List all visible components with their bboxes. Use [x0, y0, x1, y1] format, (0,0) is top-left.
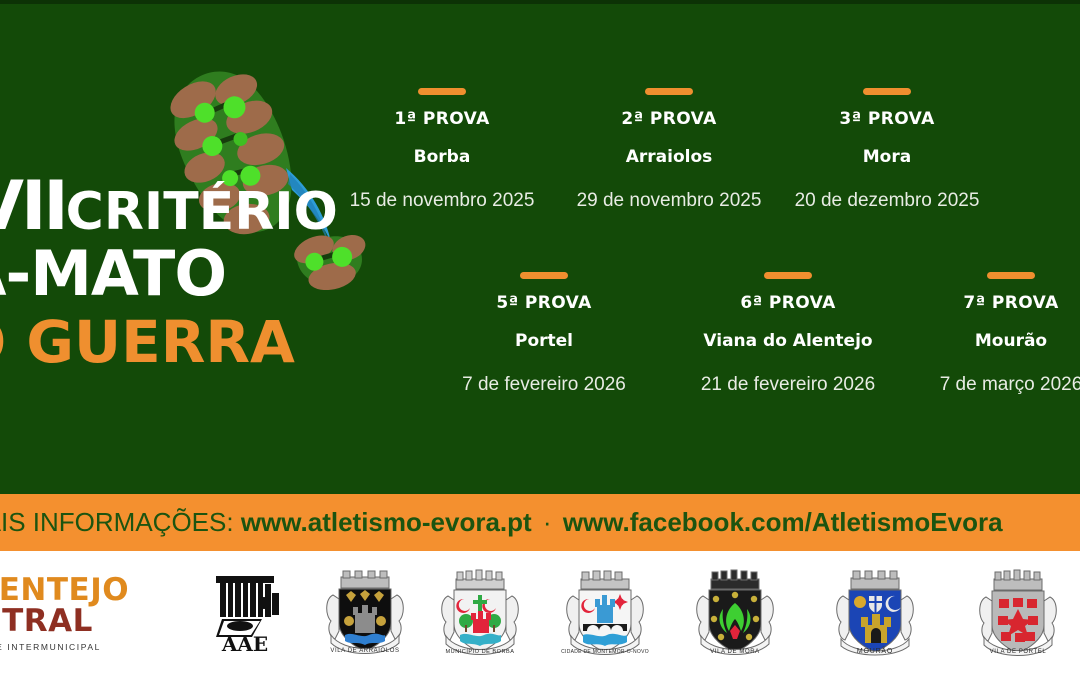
race-date-7: 7 de março 2026 [896, 374, 1080, 396]
accent-dash-icon [645, 88, 693, 95]
mourao-coat-of-arms-icon: MOURÃO [829, 569, 921, 657]
crest-portel: VILA DE PORTEL [955, 551, 1080, 675]
accent-dash-icon [863, 88, 911, 95]
accent-dash-icon [987, 272, 1035, 279]
borba-crest-caption: MUNICÍPIO DE BORBA [446, 648, 515, 655]
race-number-7: 7ª PROVA [896, 293, 1080, 313]
race-number-4: 4ª [995, 109, 1080, 129]
accent-dash-icon [520, 272, 568, 279]
race-number-2: 2ª PROVA [554, 109, 784, 129]
race-place-2: Arraiolos [554, 147, 784, 167]
race-place-6: Viana do Alentejo [673, 331, 903, 351]
race-date-4: 24 de j [995, 190, 1080, 212]
race-card-4: 4ª Monte 24 de j [995, 88, 1080, 212]
info-band-text: MAIS INFORMAÇÕES: www.atletismo-evora.pt… [0, 507, 1003, 538]
aae-wordmark: AAE [221, 632, 268, 653]
race-card-5: 5ª PROVA Portel 7 de fevereiro 2026 [429, 272, 659, 396]
alentejo-central-line3: UNIDADE INTERMUNICIPAL [0, 642, 101, 652]
portel-crest-caption: VILA DE PORTEL [989, 649, 1046, 655]
info-band: MAIS INFORMAÇÕES: www.atletismo-evora.pt… [0, 494, 1080, 551]
borba-coat-of-arms-icon: MUNICÍPIO DE BORBA [434, 569, 526, 657]
mora-crest-caption: VILA DE MORA [710, 649, 760, 655]
race-card-6: 6ª PROVA Viana do Alentejo 21 de feverei… [673, 272, 903, 396]
url-separator: · [539, 507, 556, 537]
alentejo-central-line2: ENTRAL [0, 606, 93, 637]
mora-coat-of-arms-icon: VILA DE MORA [689, 569, 781, 657]
race-date-2: 29 de novembro 2025 [554, 190, 784, 212]
crest-montemor-o-novo: CIDADE DE MONTEMOR-O-NOVO [540, 551, 670, 675]
race-card-1: 1ª PROVA Borba 15 de novembro 2025 [327, 88, 557, 212]
race-card-3: 3ª PROVA Mora 20 de dezembro 2025 [772, 88, 1002, 212]
race-date-5: 7 de fevereiro 2026 [429, 374, 659, 396]
portel-coat-of-arms-icon: VILA DE PORTEL [972, 569, 1064, 657]
race-number-5: 5ª PROVA [429, 293, 659, 313]
mourao-crest-caption: MOURÃO [857, 646, 893, 655]
arraiolos-coat-of-arms-icon: VILA DE ARRAIOLOS [319, 569, 411, 657]
race-schedule: 1ª PROVA Borba 15 de novembro 2025 2ª PR… [0, 0, 1080, 490]
sponsor-logo-strip: ALENTEJO ENTRAL UNIDADE INTERMUNICIPAL [0, 551, 1080, 675]
accent-dash-icon [418, 88, 466, 95]
alentejo-central-logo: ALENTEJO ENTRAL UNIDADE INTERMUNICIPAL [0, 551, 194, 675]
race-place-5: Portel [429, 331, 659, 351]
crest-mora: VILA DE MORA [675, 551, 795, 675]
crest-arraiolos: VILA DE ARRAIOLOS [305, 551, 425, 675]
website-url[interactable]: www.atletismo-evora.pt [241, 507, 532, 537]
crest-mourao: MOURÃO [815, 551, 935, 675]
race-place-3: Mora [772, 147, 1002, 167]
montemor-crest-caption: CIDADE DE MONTEMOR-O-NOVO [561, 649, 649, 655]
race-number-6: 6ª PROVA [673, 293, 903, 313]
alentejo-central-line1: ALENTEJO [0, 575, 129, 606]
race-number-1: 1ª PROVA [327, 109, 557, 129]
info-band-lead: MAIS INFORMAÇÕES: [0, 507, 234, 537]
race-date-3: 20 de dezembro 2025 [772, 190, 1002, 212]
race-place-4: Monte [995, 147, 1080, 167]
race-number-3: 3ª PROVA [772, 109, 1002, 129]
facebook-url[interactable]: www.facebook.com/AtletismoEvora [563, 507, 1003, 537]
race-card-7: 7ª PROVA Mourão 7 de março 2026 [896, 272, 1080, 396]
race-date-1: 15 de novembro 2025 [327, 190, 557, 212]
accent-dash-icon [764, 272, 812, 279]
race-place-7: Mourão [896, 331, 1080, 351]
montemor-coat-of-arms-icon: CIDADE DE MONTEMOR-O-NOVO [557, 569, 653, 657]
poster-canvas: XVIICRITÉRIO TA-MATO LO GUERRA 1ª PROVA … [0, 0, 1080, 675]
aae-emblem-icon: AAE [202, 573, 288, 653]
crest-borba: MUNICÍPIO DE BORBA [420, 551, 540, 675]
aae-logo: AAE [185, 551, 305, 675]
arraiolos-crest-caption: VILA DE ARRAIOLOS [330, 648, 399, 654]
race-card-2: 2ª PROVA Arraiolos 29 de novembro 2025 [554, 88, 784, 212]
race-place-1: Borba [327, 147, 557, 167]
race-date-6: 21 de fevereiro 2026 [673, 374, 903, 396]
